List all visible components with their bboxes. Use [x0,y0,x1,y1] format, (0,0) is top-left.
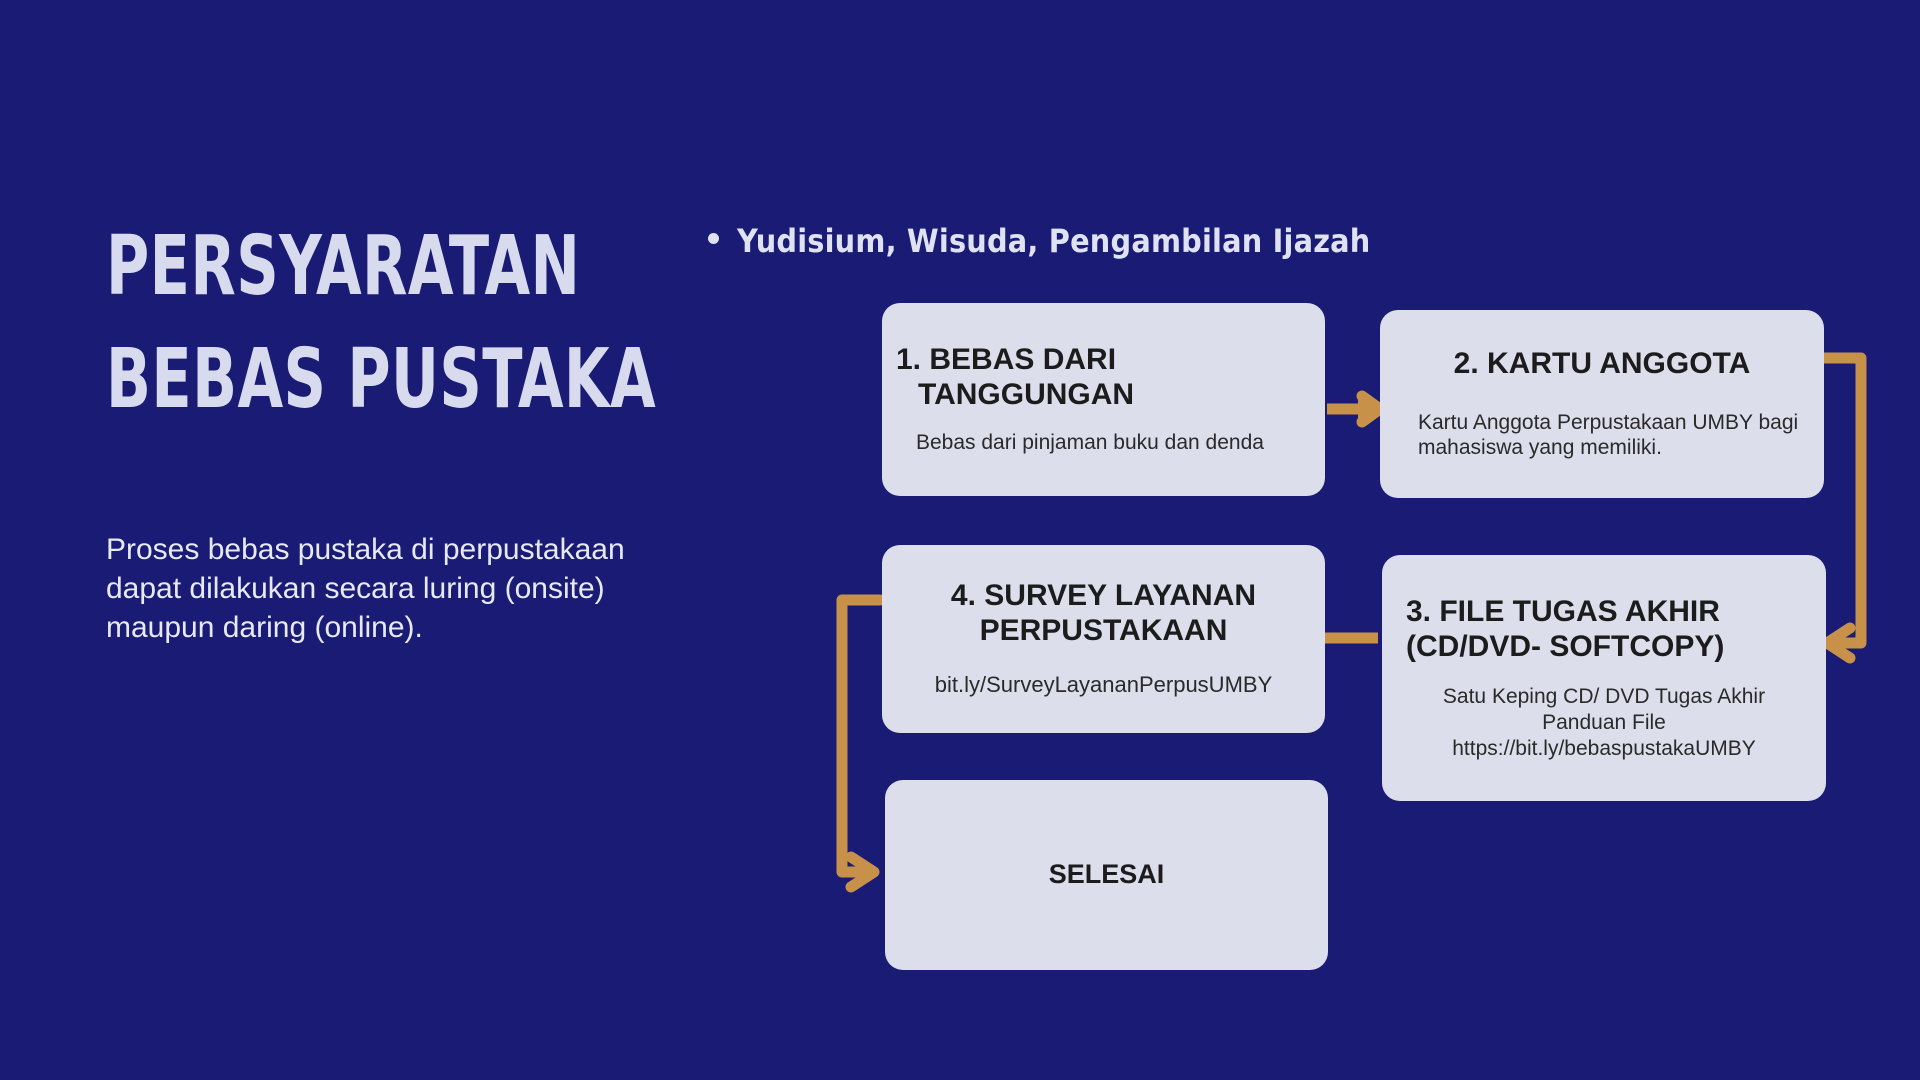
flow-step-2-body: Kartu Anggota Perpustakaan UMBY bagi mah… [1402,410,1802,461]
slide-canvas: PERSYARATAN BEBAS PUSTAKA Proses bebas p… [0,0,1920,1080]
flow-step-4[interactable]: 4. SURVEY LAYANAN PERPUSTAKAAN bit.ly/Su… [882,545,1325,733]
arrow-box1-to-box2 [1327,394,1383,424]
arrow-box4-to-box5 [842,600,880,887]
page-title-line-1: PERSYARATAN [106,210,618,323]
flow-step-3-body: Satu Keping CD/ DVD Tugas Akhir Panduan … [1398,684,1810,761]
flow-step-finish[interactable]: SELESAI [885,780,1328,970]
left-column: PERSYARATAN BEBAS PUSTAKA [106,210,746,436]
flow-step-1-title: 1. BEBAS DARI TANGGUNGAN [904,343,1303,413]
flow-step-finish-title: SELESAI [1049,859,1165,890]
flow-step-3-title: 3. FILE TUGAS AKHIR (CD/DVD- SOFTCOPY) [1398,595,1810,665]
flow-step-4-title: 4. SURVEY LAYANAN PERPUSTAKAAN [904,579,1303,649]
flow-step-4-body: bit.ly/SurveyLayananPerpusUMBY [904,672,1303,699]
bullet-dot-icon [708,233,719,244]
flow-step-2-title: 2. KARTU ANGGOTA [1402,347,1802,382]
page-title-line-2: BEBAS PUSTAKA [106,323,618,436]
flow-step-1-body: Bebas dari pinjaman buku dan denda [904,430,1303,456]
page-title: PERSYARATAN BEBAS PUSTAKA [106,210,618,436]
flow-step-2[interactable]: 2. KARTU ANGGOTA Kartu Anggota Perpustak… [1380,310,1824,498]
flow-step-3[interactable]: 3. FILE TUGAS AKHIR (CD/DVD- SOFTCOPY) S… [1382,555,1826,801]
arrow-box2-to-box3 [1824,358,1861,658]
flow-heading-label: Yudisium, Wisuda, Pengambilan Ijazah [737,222,1370,260]
flow-heading: Yudisium, Wisuda, Pengambilan Ijazah [708,222,1370,260]
intro-paragraph: Proses bebas pustaka di perpustakaan dap… [106,530,646,647]
flow-step-1[interactable]: 1. BEBAS DARI TANGGUNGAN Bebas dari pinj… [882,303,1325,496]
